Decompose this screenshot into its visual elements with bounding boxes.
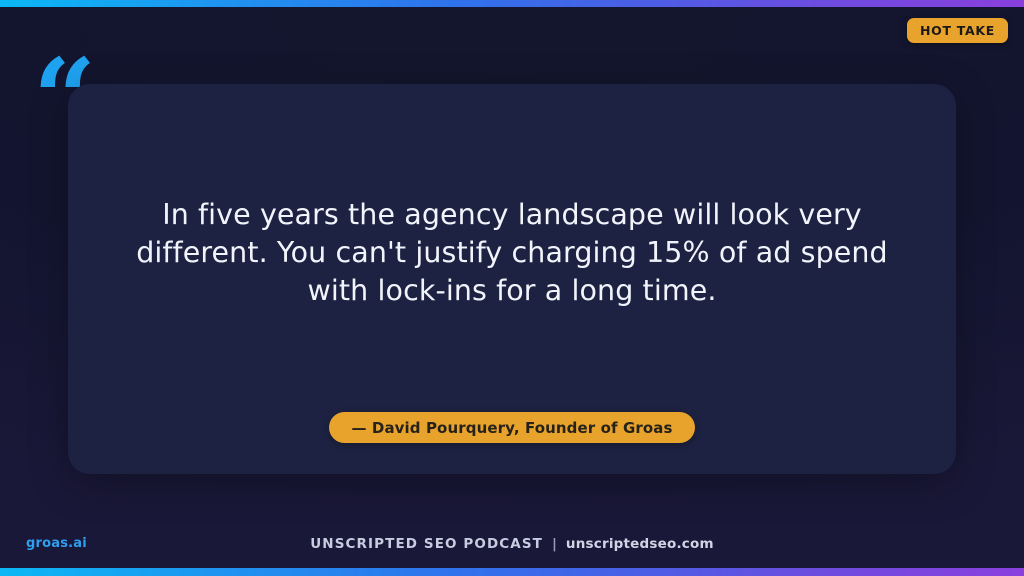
- footer-website-link[interactable]: unscriptedseo.com: [566, 536, 714, 552]
- footer: groas.ai UNSCRIPTED SEO PODCAST | unscri…: [0, 520, 1024, 568]
- footer-podcast-name: UNSCRIPTED SEO PODCAST: [310, 536, 543, 552]
- quote-card-canvas: HOT TAKE “ In five years the agency land…: [0, 0, 1024, 576]
- hot-take-badge: HOT TAKE: [907, 18, 1008, 43]
- bottom-accent-bar: [0, 568, 1024, 576]
- quote-text: In five years the agency landscape will …: [102, 196, 922, 310]
- attribution-label: — David Pourquery, Founder of Groas: [351, 419, 672, 437]
- attribution-container: — David Pourquery, Founder of Groas: [68, 412, 956, 443]
- footer-separator: |: [552, 536, 557, 552]
- footer-center: UNSCRIPTED SEO PODCAST | unscriptedseo.c…: [0, 536, 1024, 552]
- quote-card: In five years the agency landscape will …: [68, 84, 956, 474]
- hot-take-badge-label: HOT TAKE: [920, 23, 995, 38]
- top-accent-bar: [0, 0, 1024, 7]
- attribution-pill: — David Pourquery, Founder of Groas: [329, 412, 694, 443]
